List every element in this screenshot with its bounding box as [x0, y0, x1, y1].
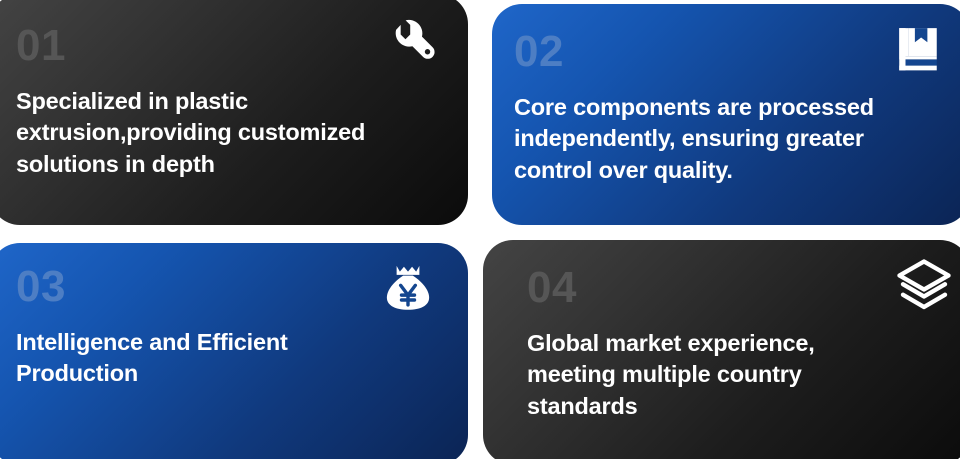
money-bag-yen-icon	[380, 259, 436, 315]
card-content-03: 03 Intelligence and Efficient Production	[0, 243, 468, 459]
feature-card-03[interactable]: 03 Intelligence and Efficient Production	[0, 243, 468, 459]
card-title-01: Specialized in plastic extrusion,providi…	[16, 86, 434, 180]
feature-card-02[interactable]: 02 Core components are processed indepen…	[492, 4, 960, 225]
feature-card-01[interactable]: 01 Specialized in plastic extrusion,prov…	[0, 0, 468, 225]
feature-card-04[interactable]: 04 Global market experience, meeting mul…	[483, 240, 960, 459]
book-bookmark-icon	[890, 22, 946, 78]
card-number-03: 03	[16, 265, 434, 309]
card-title-04: Global market experience, meeting multip…	[527, 328, 936, 422]
card-title-03: Intelligence and Efficient Production	[16, 327, 434, 390]
feature-cards-grid: 01 Specialized in plastic extrusion,prov…	[0, 0, 960, 459]
card-title-02: Core components are processed independen…	[514, 92, 936, 186]
card-number-02: 02	[514, 30, 936, 74]
wrench-icon	[384, 16, 440, 72]
card-number-04: 04	[527, 266, 936, 310]
card-content-04: 04 Global market experience, meeting mul…	[483, 240, 960, 459]
layers-stack-icon	[896, 258, 952, 314]
card-number-01: 01	[16, 24, 434, 68]
card-content-01: 01 Specialized in plastic extrusion,prov…	[0, 0, 468, 225]
card-content-02: 02 Core components are processed indepen…	[492, 4, 960, 225]
